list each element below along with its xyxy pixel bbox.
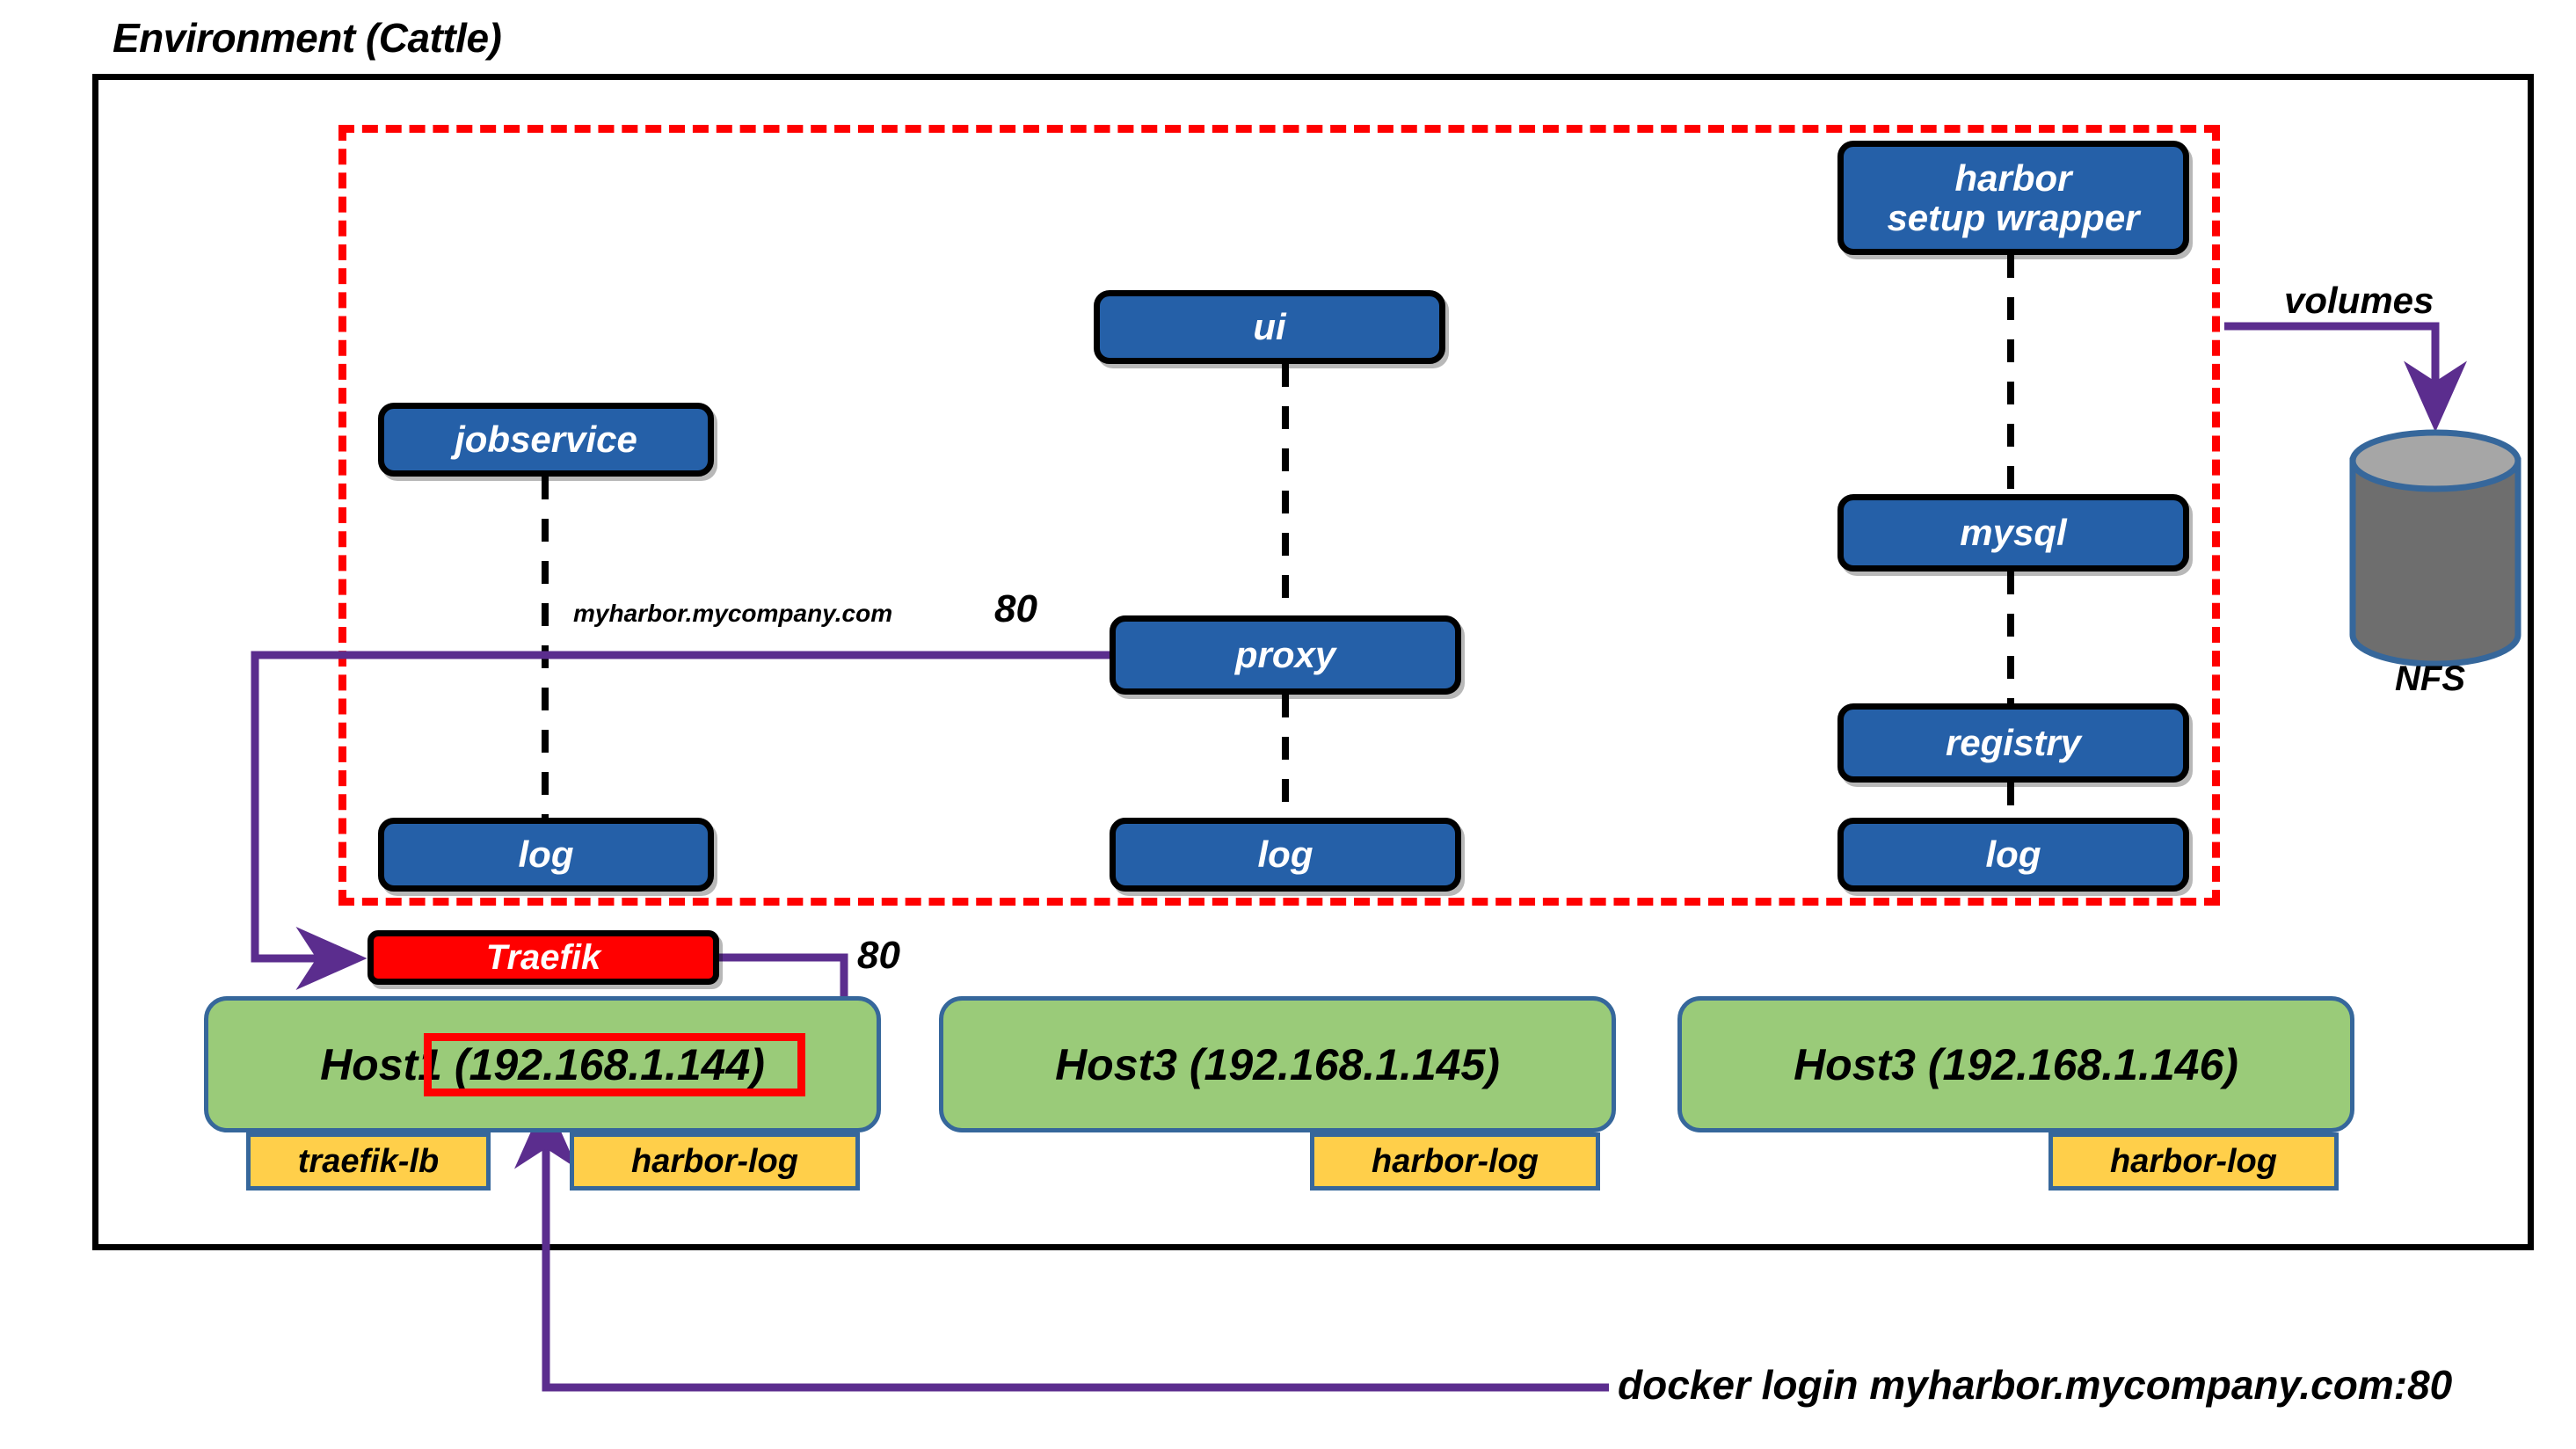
service-label-jobservice-log: log (519, 834, 574, 874)
wire-volumes-to-nfs (2224, 326, 2435, 420)
service-box-jobservice-log[interactable]: log (378, 818, 714, 892)
service-label-registry-log: log (1986, 834, 2041, 874)
wire-proxy-to-traefik (255, 655, 1110, 958)
traefik-label: Traefik (486, 938, 600, 978)
host-box-host1[interactable]: Host1 (192.168.1.144) (204, 996, 881, 1132)
service-box-ui[interactable]: ui (1094, 290, 1445, 364)
architecture-diagram: Environment (Cattle) jobservice (0, 0, 2576, 1449)
connector-layer (0, 0, 2576, 1449)
tag-label-host2-harbor-log: harbor-log (1372, 1143, 1539, 1181)
service-box-proxy-log[interactable]: log (1110, 818, 1461, 892)
service-box-harbor-setup-wrapper[interactable]: harbor setup wrapper (1837, 141, 2189, 255)
port-annotation-traefik: 80 (857, 934, 900, 978)
nfs-label: NFS (2395, 659, 2465, 699)
service-box-proxy[interactable]: proxy (1110, 615, 1461, 695)
nfs-cylinder-icon (2349, 429, 2521, 666)
tag-label-traefik-lb: traefik-lb (298, 1143, 439, 1181)
tag-label-host1-harbor-log: harbor-log (631, 1143, 798, 1181)
host-label-host3: Host3 (192.168.1.146) (1794, 1039, 2238, 1090)
service-label-jobservice: jobservice (455, 419, 637, 459)
host-box-host2[interactable]: Host3 (192.168.1.145) (939, 996, 1616, 1132)
host-box-host3[interactable]: Host3 (192.168.1.146) (1677, 996, 2354, 1132)
hostname-annotation: myharbor.mycompany.com (573, 600, 892, 628)
service-label-ui: ui (1253, 307, 1285, 346)
docker-login-annotation: docker login myharbor.mycompany.com:80 (1618, 1361, 2452, 1409)
tag-traefik-lb[interactable]: traefik-lb (246, 1132, 491, 1191)
service-label-registry: registry (1946, 723, 2081, 762)
service-label-proxy-log: log (1258, 834, 1313, 874)
tag-host2-harbor-log[interactable]: harbor-log (1310, 1132, 1600, 1191)
service-box-registry[interactable]: registry (1837, 703, 2189, 783)
service-label-proxy: proxy (1235, 635, 1335, 674)
service-box-mysql[interactable]: mysql (1837, 494, 2189, 572)
host-label-host1: Host1 (192.168.1.144) (320, 1039, 765, 1090)
service-box-jobservice[interactable]: jobservice (378, 403, 714, 477)
tag-label-host3-harbor-log: harbor-log (2110, 1143, 2277, 1181)
traefik-loadbalancer-box[interactable]: Traefik (367, 930, 719, 985)
service-label-harbor-setup-wrapper: harbor setup wrapper (1887, 158, 2139, 238)
tag-host3-harbor-log[interactable]: harbor-log (2048, 1132, 2339, 1191)
volumes-label: volumes (2284, 280, 2434, 322)
service-label-mysql: mysql (1960, 513, 2066, 552)
port-annotation-proxy: 80 (994, 587, 1037, 631)
tag-host1-harbor-log[interactable]: harbor-log (570, 1132, 860, 1191)
host-label-host2: Host3 (192.168.1.145) (1055, 1039, 1500, 1090)
service-box-registry-log[interactable]: log (1837, 818, 2189, 892)
